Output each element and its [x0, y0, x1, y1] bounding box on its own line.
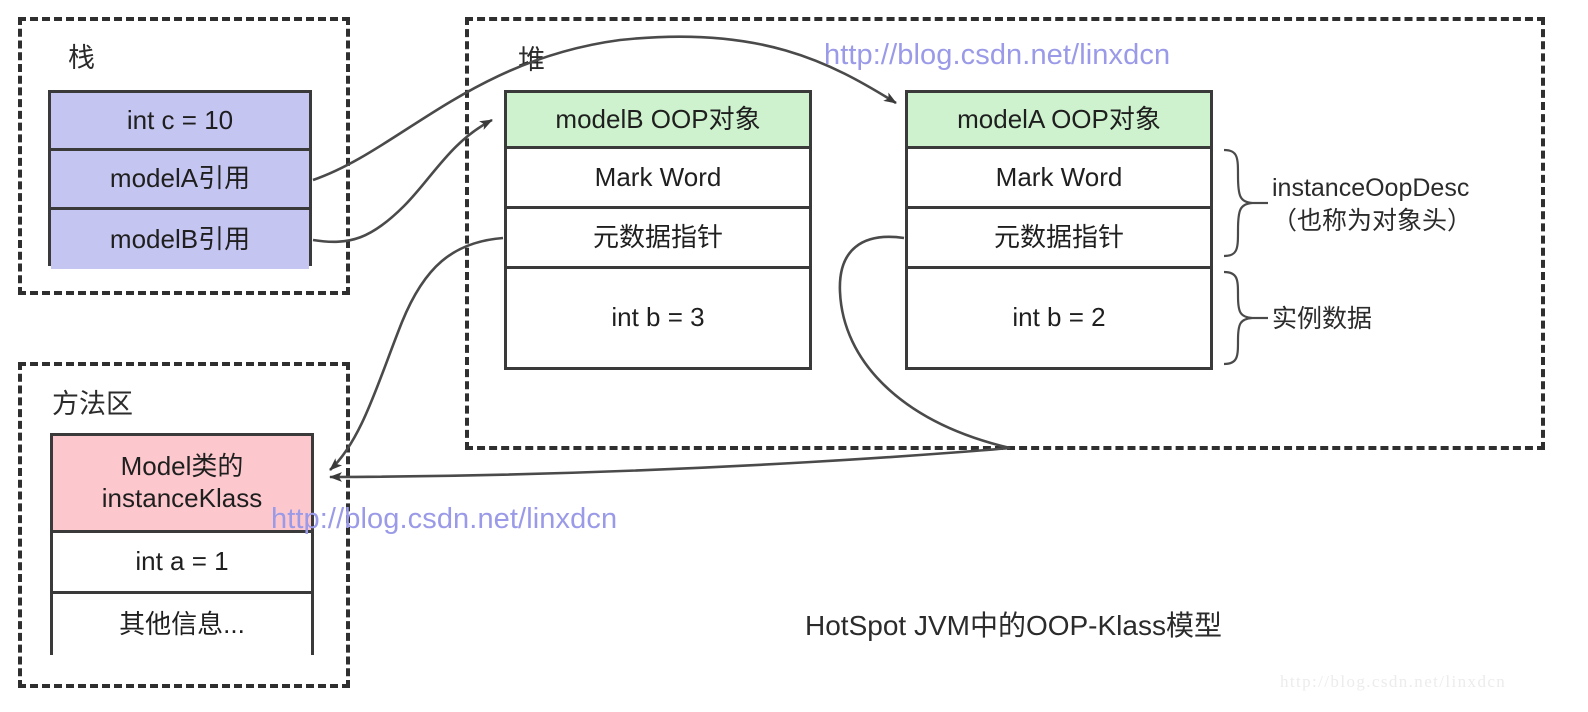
region-method-area-label: 方法区	[52, 382, 133, 421]
annotation-instance-oop-desc-line2: （也称为对象头）	[1272, 205, 1472, 238]
modela-row-mark-word: Mark Word	[908, 149, 1210, 209]
modelb-row-mark-word: Mark Word	[507, 149, 809, 209]
klass-row-int-a: int a = 1	[53, 533, 311, 594]
klass-row-line1: Model类的	[121, 451, 244, 483]
stack-row-modela-ref: modelA引用	[51, 151, 309, 210]
modelb-row-metadata-pointer: 元数据指针	[507, 209, 809, 269]
annotation-instance-data: 实例数据	[1272, 303, 1372, 336]
stack-row-modelb-ref: modelB引用	[51, 210, 309, 269]
region-heap-label: 堆	[518, 38, 545, 77]
stack-row-int-c: int c = 10	[51, 93, 309, 151]
modelb-row-int-b: int b = 3	[507, 269, 809, 367]
watermark-middle: http://blog.csdn.net/linxdcn	[271, 503, 617, 536]
annotation-instance-oop-desc: instanceOopDesc （也称为对象头）	[1272, 172, 1472, 237]
modela-oop-object-table: modelA OOP对象 Mark Word 元数据指针 int b = 2	[905, 90, 1213, 370]
diagram-caption: HotSpot JVM中的OOP-Klass模型	[805, 604, 1222, 644]
modela-row-metadata-pointer: 元数据指针	[908, 209, 1210, 269]
modela-row-int-b: int b = 2	[908, 269, 1210, 367]
instance-klass-table: Model类的 instanceKlass int a = 1 其他信息...	[50, 433, 314, 655]
region-stack-label: 栈	[68, 36, 95, 75]
jvm-oop-klass-diagram: 栈 堆 方法区 int c = 10 modelA引用 modelB引用 mod…	[0, 0, 1588, 712]
annotation-instance-oop-desc-line1: instanceOopDesc	[1272, 172, 1472, 205]
modelb-row-header: modelB OOP对象	[507, 93, 809, 149]
watermark-footer: http://blog.csdn.net/linxdcn	[1280, 672, 1506, 692]
modelb-oop-object-table: modelB OOP对象 Mark Word 元数据指针 int b = 3	[504, 90, 812, 370]
modela-row-header: modelA OOP对象	[908, 93, 1210, 149]
klass-row-line2: instanceKlass	[102, 483, 262, 515]
watermark-top: http://blog.csdn.net/linxdcn	[824, 39, 1170, 72]
klass-row-other-info: 其他信息...	[53, 594, 311, 655]
stack-frame-table: int c = 10 modelA引用 modelB引用	[48, 90, 312, 266]
